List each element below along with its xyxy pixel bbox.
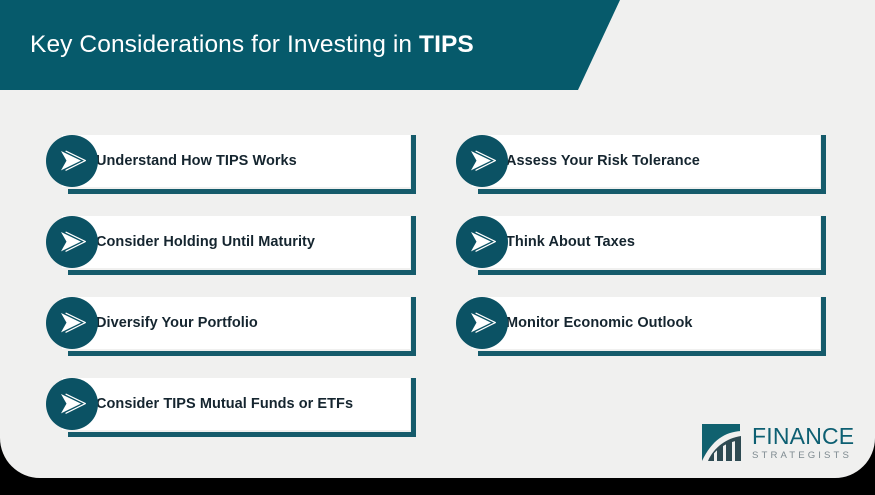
- list-item-label: Consider Holding Until Maturity: [96, 216, 315, 268]
- double-chevron-right-icon: [456, 135, 508, 187]
- considerations-column-right: Assess Your Risk Tolerance Think About T…: [456, 90, 826, 333]
- card-accent-right: [411, 378, 416, 437]
- list-item[interactable]: Understand How TIPS Works: [46, 90, 416, 171]
- list-item-label: Diversify Your Portfolio: [96, 297, 258, 349]
- screenshot-stage: Key Considerations for Investing in TIPS…: [0, 0, 875, 495]
- card-accent-right: [821, 297, 826, 356]
- card-accent-bottom: [68, 432, 416, 437]
- brand-tagline: STRATEGISTS: [752, 451, 854, 461]
- double-chevron-right-icon: [46, 216, 98, 268]
- double-chevron-right-icon: [46, 135, 98, 187]
- brand-name: FINANCE: [752, 425, 854, 448]
- double-chevron-right-icon: [456, 297, 508, 349]
- page-title: Key Considerations for Investing in TIPS: [30, 31, 474, 59]
- brand-logo: FINANCE STRATEGISTS: [700, 419, 850, 467]
- list-item-label: Consider TIPS Mutual Funds or ETFs: [96, 378, 353, 430]
- page-title-regular: Key Considerations for Investing in: [30, 31, 419, 58]
- double-chevron-right-icon: [456, 216, 508, 268]
- list-item-label: Think About Taxes: [506, 216, 635, 268]
- header-banner: Key Considerations for Investing in TIPS: [0, 0, 620, 90]
- page-title-bold: TIPS: [419, 31, 474, 58]
- list-item[interactable]: Assess Your Risk Tolerance: [456, 90, 826, 171]
- double-chevron-right-icon: [46, 297, 98, 349]
- double-chevron-right-icon: [46, 378, 98, 430]
- list-item-label: Assess Your Risk Tolerance: [506, 135, 700, 187]
- card-accent-bottom: [478, 351, 826, 356]
- bar-chart-arc-logo-icon: [700, 420, 744, 467]
- list-item-label: Monitor Economic Outlook: [506, 297, 692, 349]
- considerations-column-left: Understand How TIPS Works Consider Holdi…: [46, 90, 416, 414]
- list-item-label: Understand How TIPS Works: [96, 135, 297, 187]
- brand-wordmark: FINANCE STRATEGISTS: [752, 425, 854, 461]
